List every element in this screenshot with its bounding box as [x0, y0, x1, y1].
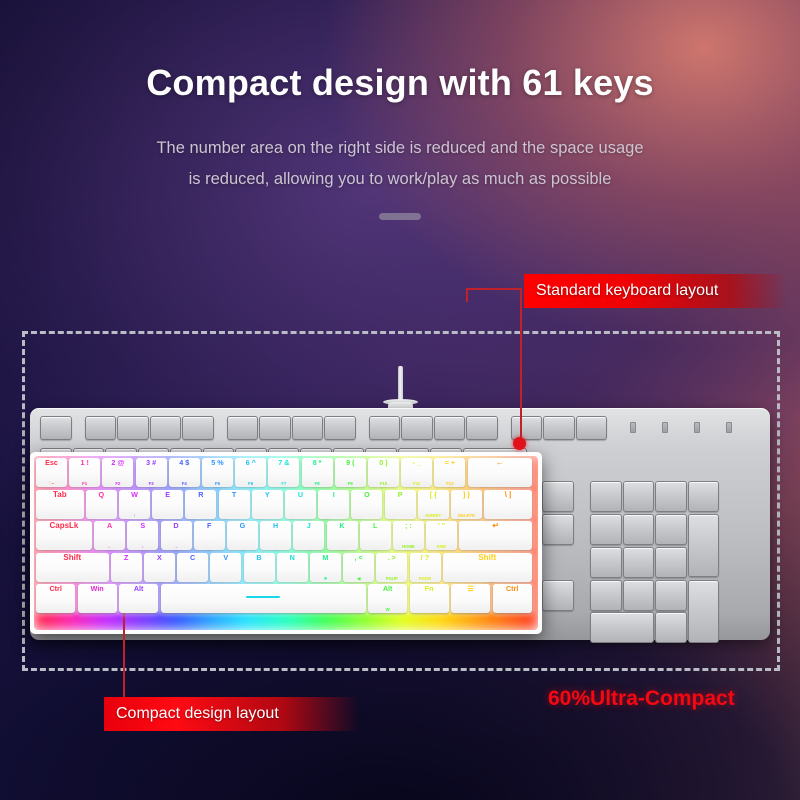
key-sublegend: F4 — [169, 482, 200, 486]
key-key[interactable]: ' "END — [426, 521, 457, 550]
reference-key-numpad — [590, 580, 622, 611]
reference-key-function — [85, 416, 117, 440]
key-k[interactable]: K — [327, 521, 358, 550]
key-sublegend: HOME — [393, 545, 424, 549]
reference-key-numpad — [590, 481, 622, 512]
key-sublegend: F10 — [368, 482, 399, 486]
key-legend: 2 @ — [102, 459, 133, 467]
key-y[interactable]: Y — [252, 490, 283, 519]
key-key[interactable]: ↵ — [459, 521, 532, 550]
key-legend: ☰ — [451, 585, 490, 593]
key-sublegend: F1 — [69, 482, 100, 486]
key-7[interactable]: 7 &F7 — [268, 458, 299, 487]
key-a[interactable]: A← — [94, 521, 125, 550]
key-9[interactable]: 9 (F9 — [335, 458, 366, 487]
key-sublegend: F11 — [401, 482, 432, 486]
key-sublegend: ↑ — [119, 514, 150, 518]
key-legend: 6 ^ — [235, 459, 266, 467]
reference-key-function — [434, 416, 466, 440]
reference-key-numpad — [590, 514, 622, 545]
key-legend: , < — [343, 554, 374, 562]
key-sublegend: F3 — [136, 482, 167, 486]
key-key[interactable]: - _F11 — [401, 458, 432, 487]
key-key[interactable]: . >PGUP — [376, 553, 407, 582]
reference-key-function — [292, 416, 324, 440]
key-sublegend: F6 — [235, 482, 266, 486]
key-key[interactable]: ← — [468, 458, 532, 487]
reference-key-numpad-dot — [655, 612, 687, 643]
key-legend: W — [119, 491, 150, 499]
key-ctrl[interactable]: Ctrl — [493, 584, 532, 613]
key-sublegend: PGDN — [410, 577, 441, 581]
key-legend: - _ — [401, 459, 432, 467]
key-legend: S — [127, 522, 158, 530]
key-1[interactable]: 1 !F1 — [69, 458, 100, 487]
key-legend: N — [277, 554, 308, 562]
key-legend: Ctrl — [493, 585, 532, 593]
key-legend: 4 $ — [169, 459, 200, 467]
key-r[interactable]: R — [185, 490, 216, 519]
indicator-led — [630, 422, 636, 433]
callout-standard-keyboard-layout: Standard keyboard layout — [524, 274, 788, 308]
key-legend: K — [327, 522, 358, 530]
key-legend: Tab — [36, 491, 84, 500]
key-q[interactable]: Q — [86, 490, 117, 519]
key-n[interactable]: N — [277, 553, 308, 582]
key-v[interactable]: V — [210, 553, 241, 582]
key-legend: I — [318, 491, 349, 499]
key-legend: ' " — [426, 522, 457, 530]
marker-dot-standard-layout — [513, 437, 526, 450]
reference-key-function — [401, 416, 433, 440]
key-legend: = + — [434, 459, 465, 467]
key-8[interactable]: 8 *F8 — [302, 458, 333, 487]
key-t[interactable]: T — [219, 490, 250, 519]
key-legend: C — [177, 554, 208, 562]
reference-key-pause — [576, 416, 608, 440]
key-legend: V — [210, 554, 241, 562]
key-spacebar[interactable] — [161, 584, 366, 613]
reference-key-numpad — [623, 547, 655, 578]
key-legend: Win — [78, 585, 117, 593]
key-key[interactable]: [ {INSERT — [418, 490, 449, 519]
key-key[interactable]: ; :HOME — [393, 521, 424, 550]
key-legend: ← — [468, 459, 532, 468]
key-legend: Y — [252, 491, 283, 499]
key-sublegend: ` ~ — [36, 482, 67, 486]
key-legend: G — [227, 522, 258, 530]
reference-key-nav — [542, 481, 574, 512]
key-2[interactable]: 2 @F2 — [102, 458, 133, 487]
key-sublegend: F5 — [202, 482, 233, 486]
key-sublegend: ↓ — [127, 545, 158, 549]
reference-key-numpad — [623, 514, 655, 545]
key-sublegend: ◀ — [343, 577, 374, 581]
key-o[interactable]: O — [351, 490, 382, 519]
key-sublegend: W — [368, 608, 407, 612]
key-u[interactable]: U — [285, 490, 316, 519]
key-legend: Z — [111, 554, 142, 562]
reference-key-numpad — [688, 481, 720, 512]
reference-key-function — [150, 416, 182, 440]
key-legend: J — [293, 522, 324, 530]
key-legend: A — [94, 522, 125, 530]
key-f[interactable]: F — [194, 521, 225, 550]
key-legend: H — [260, 522, 291, 530]
key-sublegend: ← — [94, 545, 125, 549]
key-legend: E — [152, 491, 183, 499]
key-alt[interactable]: Alt — [119, 584, 158, 613]
key-j[interactable]: J — [293, 521, 324, 550]
reference-key-function — [466, 416, 498, 440]
reference-key-numpad — [655, 547, 687, 578]
key-p[interactable]: P — [385, 490, 416, 519]
reference-key-function — [324, 416, 356, 440]
key-legend: / ? — [410, 554, 441, 562]
key-0[interactable]: 0 )F10 — [368, 458, 399, 487]
reference-key-function — [182, 416, 214, 440]
key-legend: 9 ( — [335, 459, 366, 467]
key-legend: T — [219, 491, 250, 499]
reference-key-numpad — [655, 514, 687, 545]
key-legend: 3 # — [136, 459, 167, 467]
key-3[interactable]: 3 #F3 — [136, 458, 167, 487]
key-key[interactable]: ☰ — [451, 584, 490, 613]
indicator-led — [694, 422, 700, 433]
reference-key-numpad — [655, 481, 687, 512]
callout-compact-design-layout: Compact design layout — [104, 697, 359, 731]
reference-key-esc — [40, 416, 72, 440]
key-legend: Shift — [443, 554, 532, 563]
key-legend: Alt — [368, 585, 407, 593]
key-sublegend: ☀ — [310, 577, 341, 581]
reference-key-function — [259, 416, 291, 440]
key-sublegend: → — [161, 545, 192, 549]
key-legend: U — [285, 491, 316, 499]
reference-key-numpad — [590, 547, 622, 578]
page-title: Compact design with 61 keys — [0, 62, 800, 104]
reference-key-function — [369, 416, 401, 440]
key-win[interactable]: Win — [78, 584, 117, 613]
key-legend: CapsLk — [36, 522, 92, 531]
key-sublegend: F7 — [268, 482, 299, 486]
key-legend: Fn — [410, 585, 449, 593]
key-ctrl[interactable]: Ctrl — [36, 584, 75, 613]
key-z[interactable]: Z — [111, 553, 142, 582]
reference-key-scrolllock — [543, 416, 575, 440]
promo-banner: Compact design with 61 keys The number a… — [0, 0, 800, 800]
key-sublegend: F9 — [335, 482, 366, 486]
reference-key-numpad — [623, 481, 655, 512]
key-c[interactable]: C — [177, 553, 208, 582]
key-legend: Esc — [36, 459, 67, 467]
key-tab[interactable]: Tab — [36, 490, 84, 519]
key-legend: Q — [86, 491, 117, 499]
reference-key-numpad — [655, 580, 687, 611]
key-legend: L — [360, 522, 391, 530]
reference-key-numpad-enter — [688, 580, 720, 643]
key-legend: 7 & — [268, 459, 299, 467]
key-legend: ] } — [451, 491, 482, 499]
key-6[interactable]: 6 ^F6 — [235, 458, 266, 487]
reference-key-arrow-right — [542, 580, 574, 611]
section-divider — [379, 213, 421, 220]
key-sublegend: PGUP — [376, 577, 407, 581]
key-sublegend: F2 — [102, 482, 133, 486]
key-shift[interactable]: Shift — [36, 553, 109, 582]
reference-key-numpad — [623, 580, 655, 611]
key-key[interactable]: = +F12 — [434, 458, 465, 487]
indicator-led — [662, 422, 668, 433]
reference-key-numpad-zero — [590, 612, 654, 643]
key-legend: ↵ — [459, 522, 532, 531]
key-legend: M — [310, 554, 341, 562]
key-fn[interactable]: Fn — [410, 584, 449, 613]
subtitle-line-1: The number area on the right side is red… — [0, 140, 800, 157]
key-legend: 0 ) — [368, 459, 399, 467]
key-legend: P — [385, 491, 416, 499]
key-legend: B — [244, 554, 275, 562]
key-esc[interactable]: Esc` ~ — [36, 458, 67, 487]
key-4[interactable]: 4 $F4 — [169, 458, 200, 487]
reference-key-nav — [542, 514, 574, 545]
key-legend: ; : — [393, 522, 424, 530]
key-legend: 1 ! — [69, 459, 100, 467]
key-legend: . > — [376, 554, 407, 562]
key-5[interactable]: 5 %F5 — [202, 458, 233, 487]
indicator-led — [726, 422, 732, 433]
key-sublegend: INSERT — [418, 514, 449, 518]
key-legend: Ctrl — [36, 585, 75, 593]
key-legend: F — [194, 522, 225, 530]
key-e[interactable]: E — [152, 490, 183, 519]
key-key[interactable]: ] }DELETE — [451, 490, 482, 519]
subtitle-line-2: is reduced, allowing you to work/play as… — [0, 171, 800, 188]
key-legend: \ | — [484, 491, 532, 500]
key-legend: 8 * — [302, 459, 333, 467]
key-b[interactable]: B — [244, 553, 275, 582]
key-x[interactable]: X — [144, 553, 175, 582]
key-shift[interactable]: Shift — [443, 553, 532, 582]
key-i[interactable]: I — [318, 490, 349, 519]
sixty-percent-rgb-keyboard[interactable]: Esc` ~1 !F12 @F23 #F34 $F45 %F56 ^F67 &F… — [30, 452, 542, 634]
key-g[interactable]: G — [227, 521, 258, 550]
key-legend: O — [351, 491, 382, 499]
key-d[interactable]: D→ — [161, 521, 192, 550]
key-legend: Shift — [36, 554, 109, 563]
key-l[interactable]: L — [360, 521, 391, 550]
key-key[interactable]: , <◀ — [343, 553, 374, 582]
key-legend: Alt — [119, 585, 158, 593]
leader-line-standard-vertical — [520, 288, 522, 445]
key-sublegend: F12 — [434, 482, 465, 486]
key-legend: X — [144, 554, 175, 562]
key-s[interactable]: S↓ — [127, 521, 158, 550]
key-key[interactable]: / ?PGDN — [410, 553, 441, 582]
badge-ultra-compact: 60%Ultra-Compact — [548, 687, 735, 711]
key-sublegend: F8 — [302, 482, 333, 486]
key-alt[interactable]: AltW — [368, 584, 407, 613]
reference-key-numpad-plus — [688, 514, 720, 577]
leader-line-standard-elbow — [466, 288, 468, 302]
key-legend: D — [161, 522, 192, 530]
key-h[interactable]: H — [260, 521, 291, 550]
key-capslk[interactable]: CapsLk — [36, 521, 92, 550]
reference-key-function — [227, 416, 259, 440]
key-legend: 5 % — [202, 459, 233, 467]
key-sublegend: END — [426, 545, 457, 549]
reference-key-function — [117, 416, 149, 440]
key-legend: R — [185, 491, 216, 499]
key-w[interactable]: W↑ — [119, 490, 150, 519]
reference-key-printscreen — [511, 416, 543, 440]
key-sublegend: DELETE — [451, 514, 482, 518]
key-m[interactable]: M☀ — [310, 553, 341, 582]
spacebar-indicator — [246, 596, 280, 598]
key-key[interactable]: \ | — [484, 490, 532, 519]
key-legend: [ { — [418, 491, 449, 499]
leader-line-standard-horizontal — [466, 288, 522, 290]
